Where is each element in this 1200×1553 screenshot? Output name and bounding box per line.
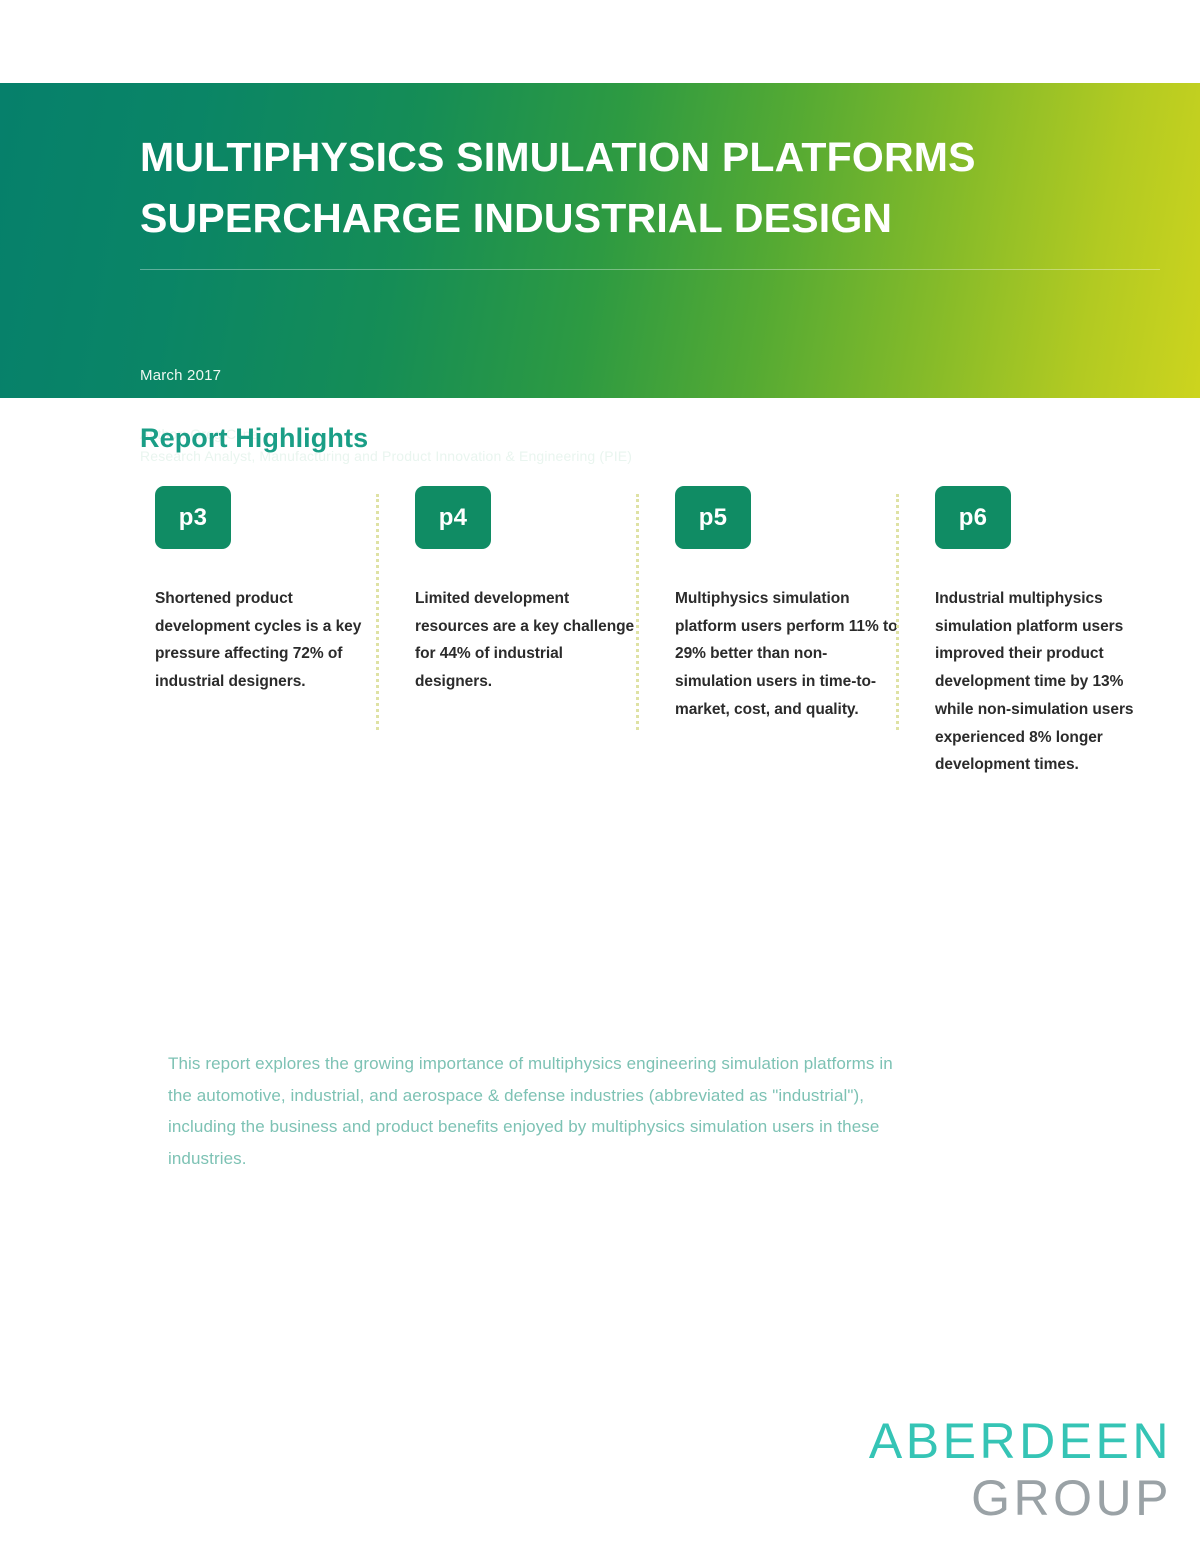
report-abstract: This report explores the growing importa… xyxy=(168,1048,913,1174)
highlight-text-p6: Industrial multiphysics simulation platf… xyxy=(935,585,1158,779)
column-divider-dotted xyxy=(896,494,899,730)
page-badge-p5[interactable]: p5 xyxy=(675,486,751,549)
logo-text-group: GROUP xyxy=(869,1473,1172,1523)
highlight-text-p4: Limited development resources are a key … xyxy=(415,585,638,696)
page-badge-p4[interactable]: p4 xyxy=(415,486,491,549)
page-title: MULTIPHYSICS SIMULATION PLATFORMS SUPERC… xyxy=(140,127,1140,248)
highlight-text-p5: Multiphysics simulation platform users p… xyxy=(675,585,898,724)
highlight-column-p4: p4 Limited development resources are a k… xyxy=(400,486,660,696)
publication-date: March 2017 xyxy=(140,367,221,384)
header-content: MULTIPHYSICS SIMULATION PLATFORMS SUPERC… xyxy=(140,83,1140,398)
column-divider-dotted xyxy=(376,494,379,730)
header-gradient-band: MULTIPHYSICS SIMULATION PLATFORMS SUPERC… xyxy=(0,83,1200,398)
report-highlights-row: p3 Shortened product development cycles … xyxy=(140,486,1180,779)
highlight-column-p6: p6 Industrial multiphysics simulation pl… xyxy=(920,486,1180,779)
page-badge-p3[interactable]: p3 xyxy=(155,486,231,549)
header-divider-rule xyxy=(140,269,1160,270)
highlight-column-p3: p3 Shortened product development cycles … xyxy=(140,486,400,696)
column-divider-dotted xyxy=(636,494,639,730)
logo-text-aberdeen: ABERDEEN xyxy=(869,1416,1172,1466)
highlight-column-p5: p5 Multiphysics simulation platform user… xyxy=(660,486,920,724)
report-cover-page: MULTIPHYSICS SIMULATION PLATFORMS SUPERC… xyxy=(0,0,1200,1553)
highlight-text-p3: Shortened product development cycles is … xyxy=(155,585,378,696)
report-highlights-heading: Report Highlights xyxy=(140,423,368,454)
aberdeen-group-logo: ABERDEEN GROUP xyxy=(869,1416,1172,1523)
page-badge-p6[interactable]: p6 xyxy=(935,486,1011,549)
